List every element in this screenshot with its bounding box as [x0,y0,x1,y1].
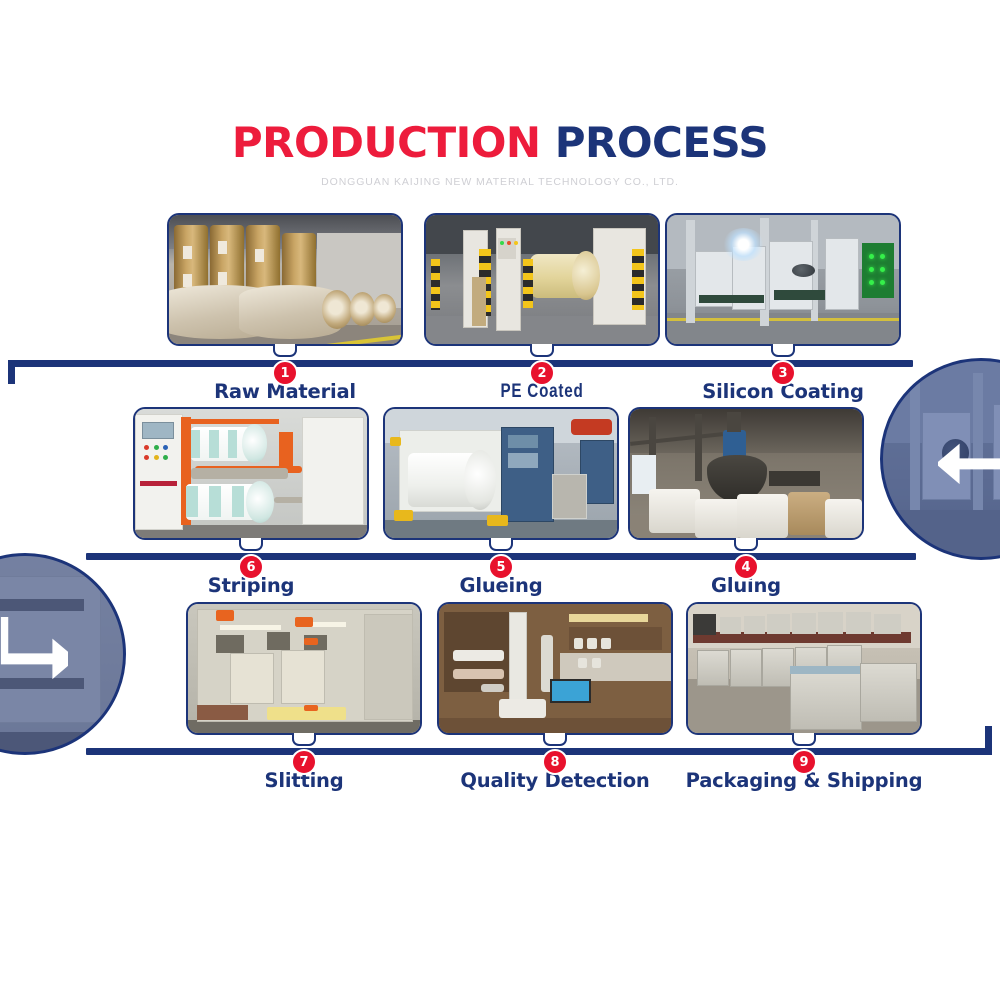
flow-rail-row-3 [86,748,992,755]
step-5-badge: 5 [488,554,514,580]
step-2-badge: 2 [529,360,555,386]
step-2-image-frame [424,213,660,346]
step-7-photo [188,604,420,733]
return-arrow-down-right-icon [0,617,68,691]
step-6-tail [239,538,263,551]
step-card-6[interactable]: 6 Striping [133,407,369,540]
step-card-3[interactable]: 3 Silicon Coating [665,213,901,346]
flow-rail-row-3-right-cap [985,726,992,755]
step-5-photo [385,409,617,538]
step-3-tail [771,344,795,357]
connector-loop-right [880,358,1000,560]
step-4-image-frame [628,407,864,540]
page-title-process: PROCESS [555,118,768,167]
company-subtitle: DONGGUAN KAIJING NEW MATERIAL TECHNOLOGY… [0,176,1000,188]
step-6-badge: 6 [238,554,264,580]
step-2-tail [530,344,554,357]
production-process-infographic: PRODUCTION PROCESS DONGGUAN KAIJING NEW … [0,0,1000,1000]
step-card-2[interactable]: 2 PE Coated [424,213,660,346]
step-card-5[interactable]: 5 Glueing [383,407,619,540]
step-3-photo [667,215,899,344]
step-7-badge: 7 [291,749,317,775]
step-4-badge: 4 [733,554,759,580]
step-8-photo [439,604,671,733]
connector-loop-left [0,553,126,755]
step-4-tail [734,538,758,551]
step-6-image-frame [133,407,369,540]
page-title-production: PRODUCTION [232,118,555,167]
step-1-photo [169,215,401,344]
step-5-tail [489,538,513,551]
step-8-tail [543,733,567,746]
step-8-image-frame [437,602,673,735]
step-9-image-frame [686,602,922,735]
step-7-tail [292,733,316,746]
step-9-photo [688,604,920,733]
step-card-8[interactable]: 8 Quality Detection [437,602,673,735]
step-9-tail [792,733,816,746]
step-3-badge: 3 [770,360,796,386]
step-8-badge: 8 [542,749,568,775]
step-card-9[interactable]: 9 Packaging & Shipping [686,602,922,735]
step-2-photo [426,215,658,344]
page-title: PRODUCTION PROCESS [0,122,1000,164]
step-card-1[interactable]: 1 Raw Material [167,213,403,346]
header: PRODUCTION PROCESS DONGGUAN KAIJING NEW … [0,122,1000,188]
step-5-image-frame [383,407,619,540]
step-6-photo [135,409,367,538]
step-4-photo [630,409,862,538]
step-card-7[interactable]: 7 Slitting [186,602,422,735]
step-3-image-frame [665,213,901,346]
return-arrow-down-left-icon [938,422,1000,496]
step-1-tail [273,344,297,357]
step-7-image-frame [186,602,422,735]
flow-rail-row-1-left-cap [8,360,15,384]
step-9-badge: 9 [791,749,817,775]
step-1-image-frame [167,213,403,346]
step-card-4[interactable]: 4 Gluing [628,407,864,540]
step-1-badge: 1 [272,360,298,386]
